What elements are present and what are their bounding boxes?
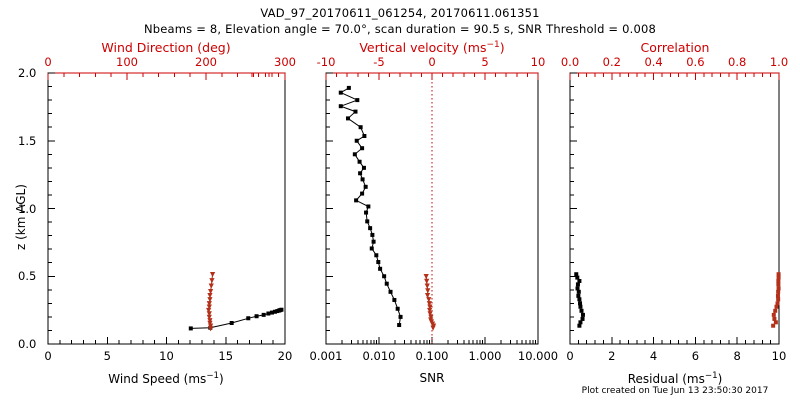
- data-point: [776, 290, 780, 294]
- panel3-top-xtick-2: 0.4: [644, 55, 662, 69]
- data-point: [774, 305, 778, 309]
- data-point: [246, 316, 250, 320]
- data-point: [425, 288, 430, 293]
- data-point: [399, 315, 403, 319]
- data-point: [209, 284, 214, 289]
- data-point: [578, 305, 582, 309]
- panel3-frame: [570, 73, 779, 344]
- panel1-xtick-4: 20: [278, 349, 293, 363]
- data-point: [339, 104, 343, 108]
- data-point: [378, 267, 382, 271]
- y-tick-2: 1.0: [18, 202, 36, 216]
- data-point: [576, 282, 580, 286]
- panel2-series-0-line: [341, 88, 401, 325]
- panel1-top-xtick-2: 200: [195, 55, 217, 69]
- data-point: [209, 278, 214, 283]
- panel3-top-xtick-4: 0.8: [728, 55, 746, 69]
- data-point: [207, 318, 212, 323]
- panel3-xtick-1: 2: [608, 349, 615, 363]
- data-point: [372, 240, 376, 244]
- data-point: [358, 171, 362, 175]
- data-point: [360, 146, 364, 150]
- panel2-xtick-1: 0.010: [363, 349, 396, 363]
- panel2-top-xtick-4: 10: [531, 55, 546, 69]
- vad-plot-figure: VAD_97_20170611_061254, 20170611.061351 …: [0, 0, 800, 400]
- panel3-top-xtick-3: 0.6: [686, 55, 704, 69]
- panel3-top-xtick-5: 1.0: [770, 55, 788, 69]
- panel1-xtick-0: 0: [44, 349, 51, 363]
- data-point: [266, 312, 270, 316]
- data-point: [362, 134, 366, 138]
- data-point: [361, 177, 365, 181]
- data-point: [773, 309, 777, 313]
- y-tick-0: 0.0: [18, 337, 36, 351]
- data-point: [368, 226, 372, 230]
- data-point: [353, 152, 357, 156]
- data-point: [579, 309, 583, 313]
- data-point: [392, 298, 396, 302]
- panel3-top-xtick-0: 0.0: [561, 55, 579, 69]
- panel1-xtick-2: 10: [159, 349, 174, 363]
- data-point: [364, 185, 368, 189]
- data-point: [364, 211, 368, 215]
- data-point: [347, 86, 351, 90]
- panel3-xtick-4: 8: [734, 349, 741, 363]
- panel3-top-xtick-1: 0.2: [603, 55, 621, 69]
- data-point: [346, 116, 350, 120]
- panel1-frame: [48, 73, 285, 344]
- data-point: [389, 290, 393, 294]
- data-point: [230, 321, 234, 325]
- data-point: [424, 279, 429, 284]
- data-point: [360, 192, 364, 196]
- data-point: [354, 198, 358, 202]
- panel1-top-xtick-0: 0: [44, 55, 51, 69]
- panel1-xtick-3: 15: [218, 349, 233, 363]
- data-point: [776, 297, 780, 301]
- data-point: [424, 274, 429, 279]
- data-point: [353, 110, 357, 114]
- data-point: [581, 313, 585, 317]
- data-point: [577, 290, 581, 294]
- panel2-top-xtick-1: -5: [373, 55, 384, 69]
- panel2-xtick-2: 0.100: [416, 349, 449, 363]
- panel2-top-xtick-0: -10: [317, 55, 336, 69]
- data-point: [776, 282, 780, 286]
- panel2-top-xtick-3: 5: [481, 55, 488, 69]
- data-point: [577, 324, 581, 328]
- data-point: [772, 313, 776, 317]
- panel1-xtick-1: 5: [104, 349, 111, 363]
- y-tick-4: 2.0: [18, 66, 36, 80]
- data-point: [397, 323, 401, 327]
- data-point: [577, 297, 581, 301]
- data-point: [279, 308, 283, 312]
- data-point: [376, 260, 380, 264]
- panel3-xtick-0: 0: [566, 349, 573, 363]
- data-point: [355, 139, 359, 143]
- data-point: [396, 307, 400, 311]
- panel2-xtick-0: 0.001: [310, 349, 343, 363]
- data-point: [359, 125, 363, 129]
- panel3-xtick-5: 10: [772, 349, 787, 363]
- panel1-top-xtick-3: 300: [274, 55, 296, 69]
- data-point: [382, 274, 386, 278]
- data-point: [370, 246, 374, 250]
- data-point: [370, 233, 374, 237]
- y-tick-3: 1.5: [18, 134, 36, 148]
- data-point: [255, 314, 259, 318]
- data-point: [358, 160, 362, 164]
- panel2-xtick-3: 1.000: [469, 349, 502, 363]
- panel2-xtick-4: 10.000: [518, 349, 558, 363]
- data-point: [355, 98, 359, 102]
- data-point: [430, 326, 435, 331]
- data-point: [374, 253, 378, 257]
- data-point: [262, 313, 266, 317]
- panel3-xtick-2: 4: [650, 349, 657, 363]
- data-point: [771, 324, 775, 328]
- data-point: [365, 219, 369, 223]
- data-point: [210, 272, 215, 277]
- data-point: [425, 284, 430, 289]
- data-point: [385, 282, 389, 286]
- panel2-top-xtick-2: 0: [428, 55, 435, 69]
- data-point: [189, 326, 193, 330]
- data-point: [339, 91, 343, 95]
- data-point: [362, 166, 366, 170]
- panel1-top-xtick-1: 100: [116, 55, 138, 69]
- y-tick-1: 0.5: [18, 269, 36, 283]
- panel3-xtick-3: 6: [692, 349, 699, 363]
- data-point: [366, 204, 370, 208]
